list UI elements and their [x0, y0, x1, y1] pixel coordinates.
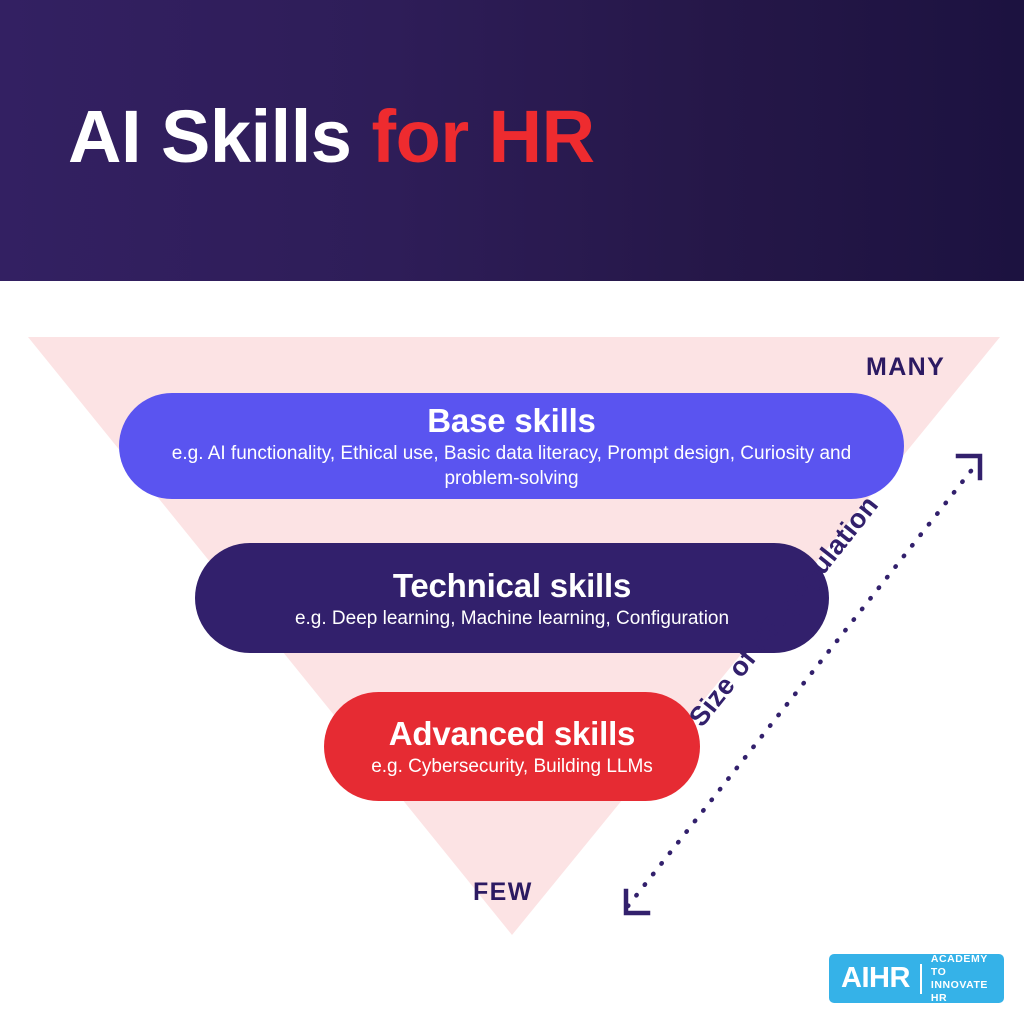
header-band: AI Skills for HR — [0, 0, 1024, 281]
skill-level-base[interactable]: Base skills e.g. AI functionality, Ethic… — [119, 393, 904, 499]
scale-label-few: FEW — [473, 878, 533, 907]
skill-level-technical-title: Technical skills — [393, 566, 631, 606]
scale-label-many: MANY — [866, 353, 945, 382]
skill-level-advanced-subtitle: e.g. Cybersecurity, Building LLMs — [371, 754, 653, 779]
aihr-logo-mark: AIHR — [841, 964, 910, 993]
page-title-main: AI Skills — [68, 95, 351, 178]
skill-level-advanced[interactable]: Advanced skills e.g. Cybersecurity, Buil… — [324, 692, 700, 801]
aihr-logo-tagline-line1: ACADEMY TO — [931, 953, 992, 979]
page-title: AI Skills for HR — [68, 94, 595, 180]
skill-level-base-title: Base skills — [427, 401, 595, 441]
skill-level-technical[interactable]: Technical skills e.g. Deep learning, Mac… — [195, 543, 829, 653]
skill-level-technical-subtitle: e.g. Deep learning, Machine learning, Co… — [295, 606, 729, 631]
skill-level-base-subtitle: e.g. AI functionality, Ethical use, Basi… — [145, 441, 878, 491]
infographic-canvas: AI Skills for HR MANY FEW Base skills e.… — [0, 0, 1024, 1024]
aihr-logo[interactable]: AIHR ACADEMY TO INNOVATE HR — [829, 954, 1004, 1003]
aihr-logo-tagline: ACADEMY TO INNOVATE HR — [931, 953, 992, 1005]
skill-level-advanced-title: Advanced skills — [389, 714, 635, 754]
aihr-logo-divider — [920, 964, 922, 994]
page-title-accent: for HR — [371, 95, 594, 178]
aihr-logo-tagline-line2: INNOVATE HR — [931, 979, 992, 1005]
